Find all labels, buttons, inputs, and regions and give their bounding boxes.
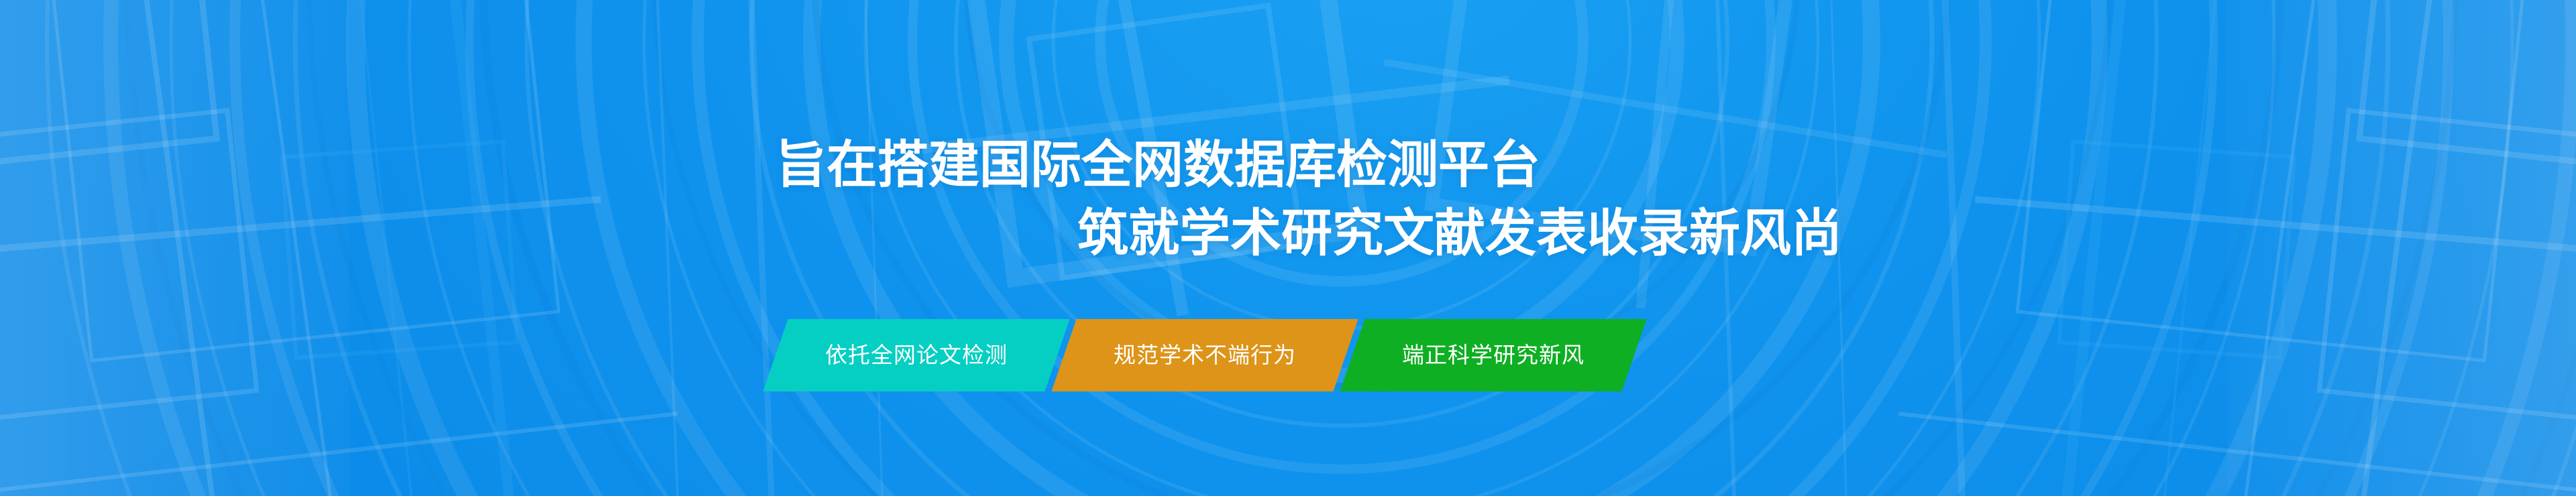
feature-tag-bar: 依托全网论文检测 规范学术不端行为 端正科学研究新风	[775, 319, 1634, 391]
feature-tag-label: 端正科学研究新风	[1402, 319, 1585, 391]
feature-tag-label: 依托全网论文检测	[825, 319, 1008, 391]
feature-tag-plagiarism-detection[interactable]: 依托全网论文检测	[763, 319, 1069, 391]
feature-tag-academic-misconduct[interactable]: 规范学术不端行为	[1051, 319, 1358, 391]
feature-tag-label: 规范学术不端行为	[1114, 319, 1296, 391]
feature-tag-research-integrity[interactable]: 端正科学研究新风	[1340, 319, 1646, 391]
hero-banner: 旨在搭建国际全网数据库检测平台 筑就学术研究文献发表收录新风尚 依托全网论文检测…	[0, 0, 2576, 496]
background-tech-pattern-icon	[0, 0, 2576, 496]
